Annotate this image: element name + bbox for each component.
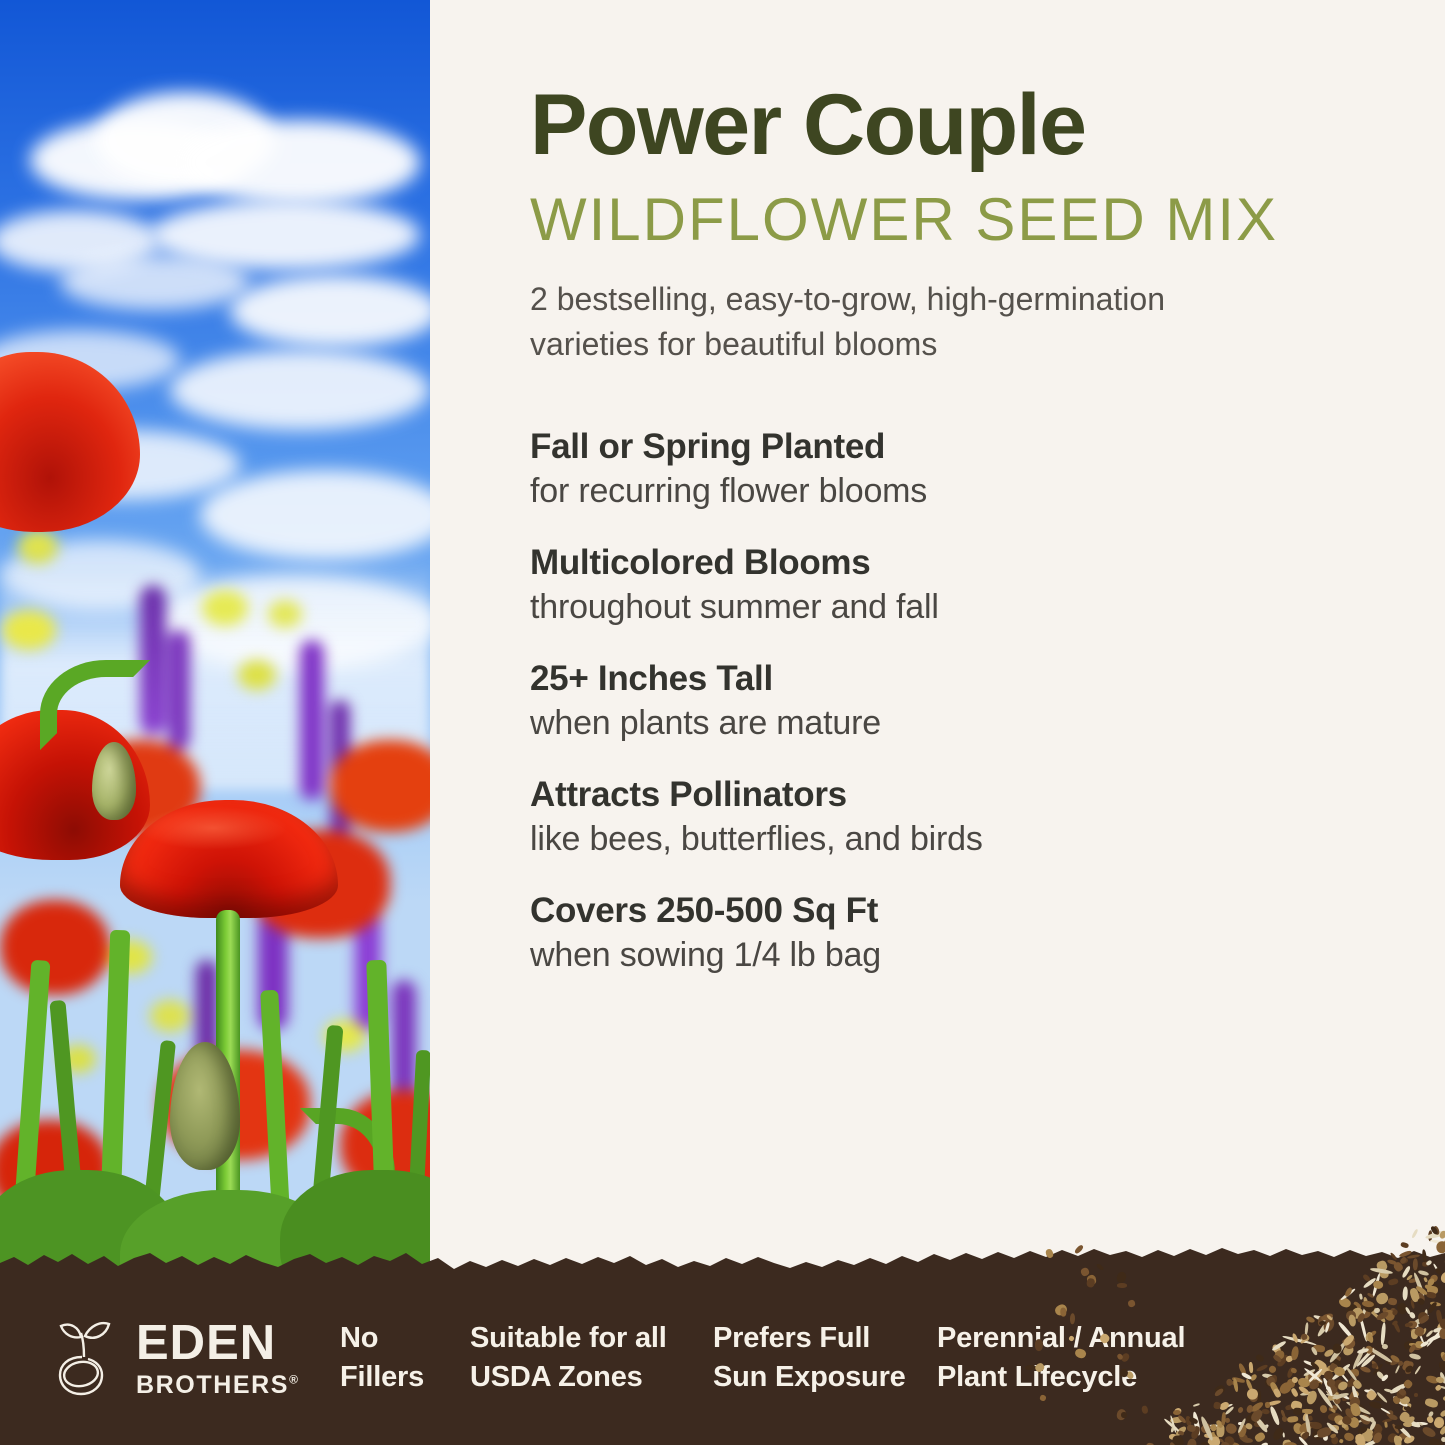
seed [1254,1431,1267,1443]
seed [1411,1229,1419,1239]
seed [1268,1364,1277,1373]
seed [1221,1412,1226,1425]
feature-item: Fall or Spring Planted for recurring flo… [530,425,1250,513]
badge-sun-exposure: Prefers Full Sun Exposure [713,1319,937,1398]
feature-subtitle: like bees, butterflies, and birds [530,817,1250,861]
seed [1293,1408,1302,1415]
feature-title: Fall or Spring Planted [530,425,1250,469]
feature-title: Attracts Pollinators [530,773,1250,817]
seed [1409,1353,1422,1360]
sprout-seed-icon [48,1317,122,1399]
badge-line2: USDA Zones [470,1358,713,1397]
seed [1237,1406,1244,1414]
seed [1434,1267,1442,1275]
seed [1414,1365,1421,1375]
badge-usda-zones: Suitable for all USDA Zones [470,1319,713,1398]
seed [1387,1278,1398,1287]
seed [1380,1323,1386,1346]
seed [1424,1397,1439,1408]
seed [1426,1260,1433,1267]
feature-subtitle: for recurring flower blooms [530,469,1250,513]
logo-brothers-text: BROTHERS® [136,1373,300,1398]
scattered-seed [1035,1339,1043,1351]
wildflower-seed-pile [1145,1175,1445,1445]
seed [1287,1415,1298,1422]
seed [1384,1388,1393,1393]
seed [1264,1402,1270,1409]
seed [1284,1442,1297,1445]
seed [1318,1404,1328,1414]
scattered-seed [1086,1277,1095,1287]
scattered-seed [1039,1394,1047,1401]
seed [1310,1421,1323,1429]
seed [1255,1353,1265,1362]
badge-line2: Fillers [340,1358,470,1397]
seed [1339,1438,1344,1443]
seed [1436,1241,1445,1253]
feature-title: 25+ Inches Tall [530,657,1250,701]
badge-line1: No [340,1322,378,1354]
seed [1414,1393,1419,1397]
seed [1291,1333,1299,1344]
feature-item: Covers 250-500 Sq Ft when sowing 1/4 lb … [530,889,1250,977]
feature-subtitle: when sowing 1/4 lb bag [530,933,1250,977]
trademark-symbol: ® [289,1372,299,1386]
seed [1384,1422,1388,1428]
seed [1271,1426,1285,1441]
badge-line2: Sun Exposure [713,1358,937,1397]
poppy-flower [120,800,338,918]
feature-title: Multicolored Blooms [530,541,1250,585]
seed [1193,1403,1200,1408]
feature-subtitle: when plants are mature [530,701,1250,745]
feature-list: Fall or Spring Planted for recurring flo… [530,425,1250,1005]
seed [1358,1293,1362,1299]
feature-title: Covers 250-500 Sq Ft [530,889,1250,933]
seed [1226,1379,1233,1386]
seed [1417,1269,1429,1276]
badge-line1: Prefers Full [713,1322,870,1354]
seed [1434,1384,1442,1392]
seed [1332,1343,1342,1354]
seed [1437,1360,1445,1373]
product-subtitle: WILDFLOWER SEED MIX [530,190,1278,250]
seed [1225,1422,1238,1435]
seed [1408,1311,1416,1319]
scattered-seed [1117,1283,1127,1288]
seed [1343,1432,1355,1442]
product-infographic: Power Couple WILDFLOWER SEED MIX 2 bests… [0,0,1445,1445]
feature-item: Multicolored Blooms throughout summer an… [530,541,1250,629]
foreground-flowers [0,0,430,1290]
eden-brothers-logo[interactable]: EDEN BROTHERS® [48,1317,340,1399]
scattered-seed [1060,1307,1066,1316]
poppy-flower [0,352,140,532]
wildflower-meadow-photo [0,0,430,1290]
feature-subtitle: throughout summer and fall [530,585,1250,629]
feature-item: Attracts Pollinators like bees, butterfl… [530,773,1250,861]
poppy-bud-stem [40,660,150,750]
logo-wordmark: EDEN BROTHERS® [136,1319,300,1398]
badge-no-fillers: No Fillers [340,1319,470,1398]
seed [1387,1298,1397,1306]
seed [1403,1378,1414,1389]
product-lede: 2 bestselling, easy-to-grow, high-germin… [530,277,1270,368]
footer-badges: No Fillers Suitable for all USDA Zones P… [340,1319,1207,1398]
seed [1413,1258,1418,1270]
seed [1391,1309,1398,1316]
seed [1402,1287,1408,1301]
page-title: Power Couple [530,82,1085,168]
seed [1269,1405,1281,1425]
seed [1421,1249,1426,1262]
seed [1249,1362,1254,1373]
seed [1280,1409,1286,1417]
feature-item: 25+ Inches Tall when plants are mature [530,657,1250,745]
logo-eden-text: EDEN [136,1319,300,1368]
scattered-seed [1121,1412,1127,1418]
seed [1291,1346,1300,1360]
seed [1308,1415,1313,1421]
scattered-seed [1142,1405,1149,1414]
seed [1362,1273,1371,1282]
badge-line1: Suitable for all [470,1322,667,1354]
seed [1400,1241,1409,1248]
seed [1256,1364,1269,1372]
